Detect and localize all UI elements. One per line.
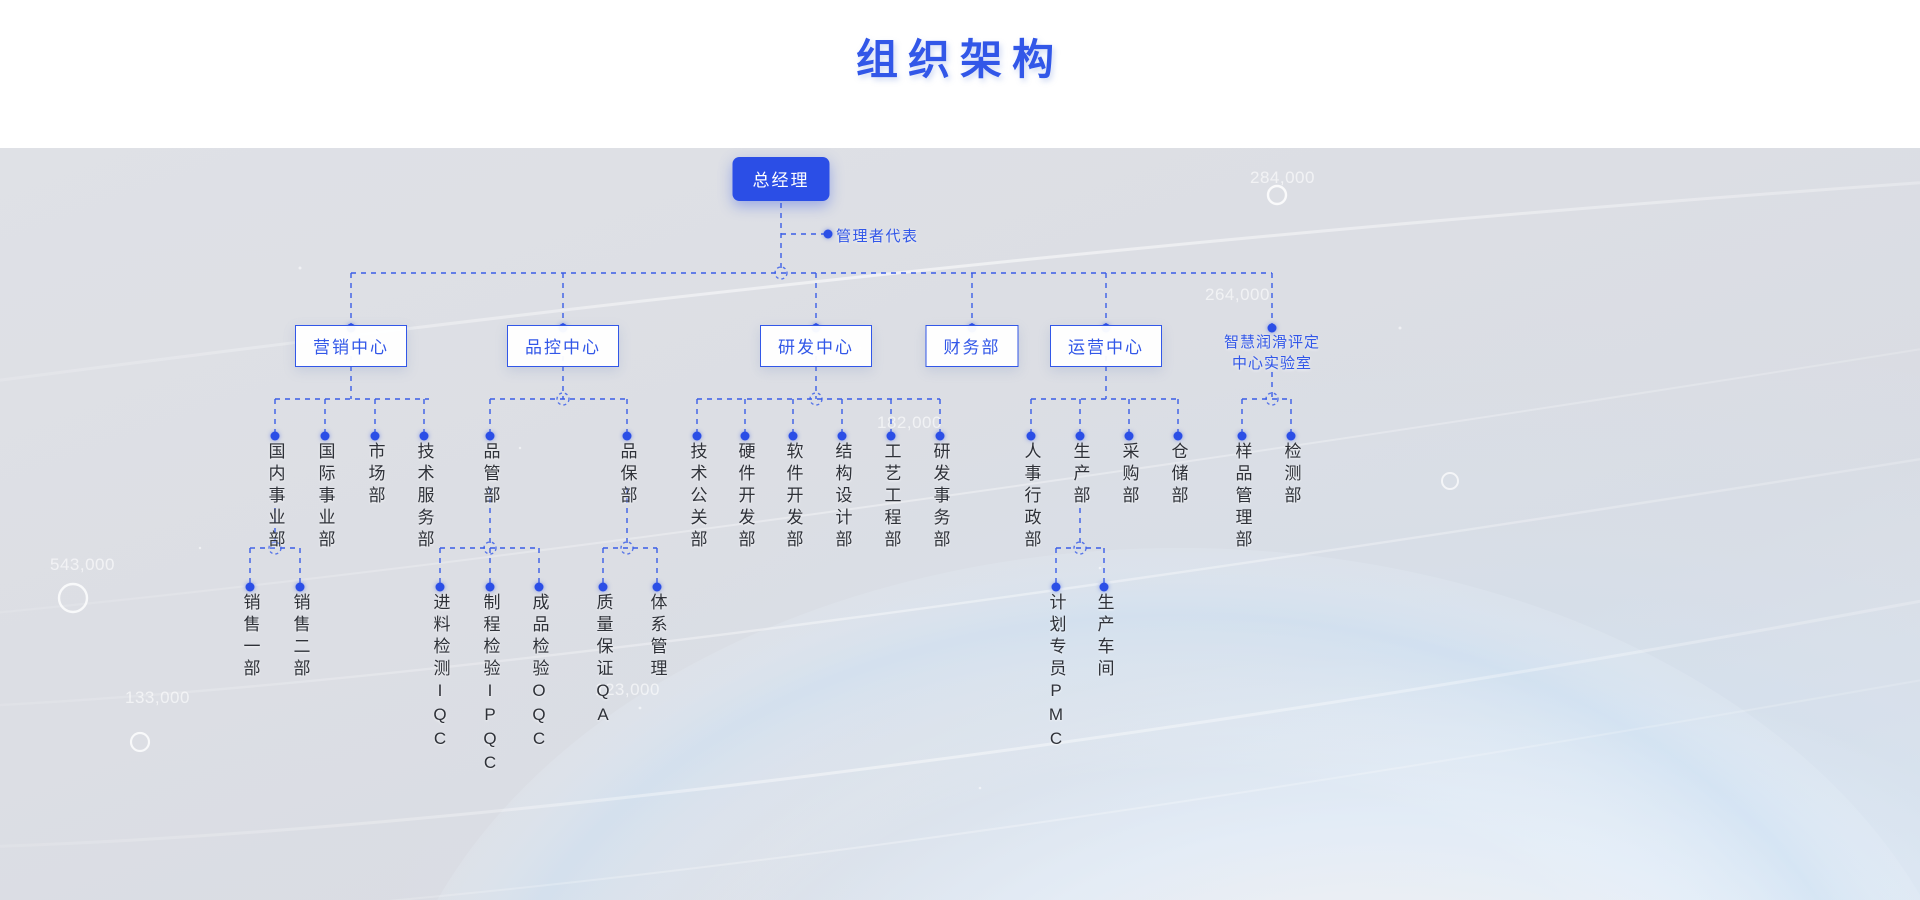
node-planning-specialist-pmc[interactable]: 计划专员PMC [1044, 593, 1069, 753]
node-rd-center[interactable]: 研发中心 [760, 325, 872, 367]
node-dot [486, 432, 495, 441]
node-technical-service-department[interactable]: 技术服务部 [412, 442, 437, 552]
node-operations-center[interactable]: 运营中心 [1050, 325, 1162, 367]
node-label-line-2: 中心实验室 [1224, 353, 1320, 374]
watermark-number: 264,000 [1205, 285, 1270, 305]
node-domestic-business-division[interactable]: 国内事业部 [263, 442, 288, 552]
node-dot [1125, 432, 1134, 441]
node-dot [1100, 583, 1109, 592]
node-dot [1238, 432, 1247, 441]
node-quality-assurance-qa[interactable]: 质量保证QA [591, 593, 616, 729]
node-outgoing-quality-control[interactable]: 成品检验OQC [527, 593, 552, 753]
node-dot [599, 583, 608, 592]
node-root[interactable]: 总经理 [733, 157, 830, 201]
node-dot [838, 432, 847, 441]
node-hardware-development-department[interactable]: 硬件开发部 [733, 442, 758, 552]
node-quality-assurance-department[interactable]: 品保部 [615, 442, 640, 508]
node-dot [420, 432, 429, 441]
node-quality-management-department[interactable]: 品管部 [478, 442, 503, 508]
node-marketing-department[interactable]: 市场部 [363, 442, 388, 508]
node-production-department[interactable]: 生产部 [1068, 442, 1093, 508]
node-smart-lubrication-lab[interactable]: 智慧润滑评定 中心实验室 [1224, 332, 1320, 374]
node-hr-admin-department[interactable]: 人事行政部 [1019, 442, 1044, 552]
node-production-workshop[interactable]: 生产车间 [1092, 593, 1117, 681]
watermark-number: 133,000 [125, 688, 190, 708]
page-title: 组织架构 [0, 26, 1920, 87]
node-dot [296, 583, 305, 592]
node-dot [1287, 432, 1296, 441]
node-management-representative[interactable]: 管理者代表 [836, 225, 919, 246]
node-dot [436, 583, 445, 592]
watermark-number: 543,000 [50, 555, 115, 575]
node-sample-management-department[interactable]: 样品管理部 [1230, 442, 1255, 552]
node-purchasing-department[interactable]: 采购部 [1117, 442, 1142, 508]
node-label-line-1: 智慧润滑评定 [1224, 332, 1320, 353]
node-dot [936, 432, 945, 441]
node-marketing-center[interactable]: 营销中心 [295, 325, 407, 367]
node-structural-design-department[interactable]: 结构设计部 [830, 442, 855, 552]
node-sales-division-1[interactable]: 销售一部 [238, 593, 263, 681]
node-dot [486, 583, 495, 592]
node-dot [1076, 432, 1085, 441]
node-in-process-quality-control[interactable]: 制程检验IPQC [478, 593, 503, 777]
node-dot [653, 583, 662, 592]
node-system-management[interactable]: 体系管理 [645, 593, 670, 681]
node-dot [623, 432, 632, 441]
node-dot [1027, 432, 1036, 441]
node-dot [535, 583, 544, 592]
node-dot [741, 432, 750, 441]
watermark-number: 182,000 [877, 413, 942, 433]
node-dot [1052, 583, 1061, 592]
node-technical-pr-department[interactable]: 技术公关部 [685, 442, 710, 552]
node-international-business-division[interactable]: 国际事业部 [313, 442, 338, 552]
node-finance-department[interactable]: 财务部 [926, 325, 1019, 367]
chart-canvas: 284,000 264,000 182,000 543,000 123,000 … [0, 148, 1920, 900]
node-dot [271, 432, 280, 441]
node-inspection-department[interactable]: 检测部 [1279, 442, 1304, 508]
node-warehouse-department[interactable]: 仓储部 [1166, 442, 1191, 508]
node-dot [246, 583, 255, 592]
background-decoration [0, 148, 1920, 900]
node-quality-control-center[interactable]: 品控中心 [507, 325, 619, 367]
node-dot [1174, 432, 1183, 441]
org-chart-page: 组织架构 [0, 0, 1920, 900]
node-incoming-quality-control[interactable]: 进料检测IQC [428, 593, 453, 753]
node-dot [371, 432, 380, 441]
node-dot [789, 432, 798, 441]
watermark-number: 284,000 [1250, 168, 1315, 188]
node-sales-division-2[interactable]: 销售二部 [288, 593, 313, 681]
node-dot [321, 432, 330, 441]
node-process-engineering-department[interactable]: 工艺工程部 [879, 442, 904, 552]
node-dot [887, 432, 896, 441]
node-dot [824, 230, 833, 239]
page-header: 组织架构 [0, 0, 1920, 148]
node-rd-affairs-department[interactable]: 研发事务部 [928, 442, 953, 552]
node-dot [693, 432, 702, 441]
node-software-development-department[interactable]: 软件开发部 [781, 442, 806, 552]
